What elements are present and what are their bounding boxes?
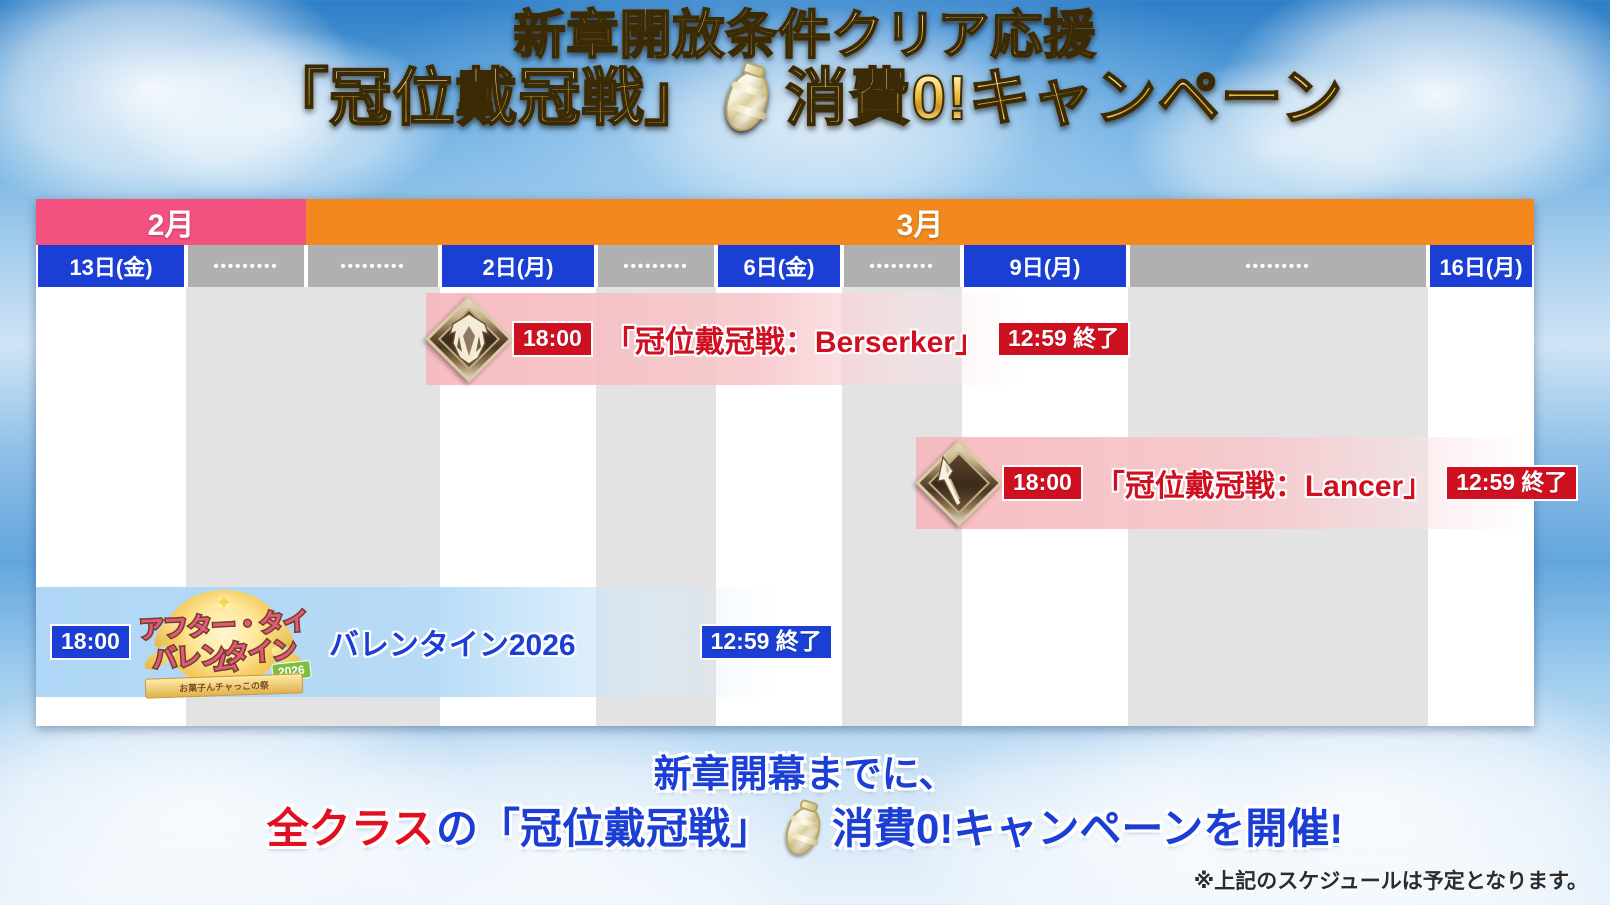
footer-line-1: 新章開幕までに、 (0, 753, 1610, 799)
schedule-body: 18:00 「冠位戴冠戦：Berserker」 12:59 終了 (36, 287, 1534, 726)
date-cell-feb-13: 13日(金) (36, 245, 186, 287)
date-dots: ••••••••• (340, 258, 405, 275)
date-cell-blank-5: ••••••••• (1128, 245, 1428, 287)
date-cell-mar-2: 2日(月) (440, 245, 596, 287)
title-line-2-prefix: 「冠位戴冠戦」 (266, 66, 707, 133)
date-label: 9日(月) (1010, 250, 1081, 282)
campaign-title: 新章開放条件クリア応援 「冠位戴冠戦」 消費0!キャンペーン (0, 8, 1610, 134)
date-dots: ••••••••• (623, 258, 688, 275)
valentine-end-badge: 12:59 終了 (700, 624, 833, 660)
date-cell-blank-2: ••••••••• (306, 245, 440, 287)
berserker-beast-glyph (444, 312, 494, 366)
valentine-logo-icon: ✦ アフター・タイム バレンタイン 2026 お菓子んチャっこの祭 (131, 588, 317, 696)
date-dots: ••••••••• (1245, 258, 1310, 275)
date-header-row: 13日(金) ••••••••• ••••••••• 2日(月) •••••••… (36, 245, 1534, 287)
valentine-start-badge: 18:00 (50, 624, 131, 660)
date-cell-blank-4: ••••••••• (842, 245, 962, 287)
date-cell-mar-9: 9日(月) (962, 245, 1128, 287)
event-bar-valentine[interactable]: 18:00 ✦ アフター・タイム バレンタイン 2026 お菓子んチャっこの祭 … (36, 587, 776, 697)
lancer-spear-glyph (931, 453, 987, 513)
footer-line-2-end: 消費0!キャンペーンを開催! (832, 804, 1343, 854)
date-label: 6日(金) (744, 250, 815, 282)
date-label: 13日(金) (69, 250, 152, 282)
valentine-logo-ribbon: お菓子んチャっこの祭 (145, 673, 304, 699)
date-cell-blank-3: ••••••••• (596, 245, 716, 287)
schedule-table: 2月 3月 13日(金) ••••••••• ••••••••• 2日(月) •… (36, 199, 1534, 726)
date-label: 2日(月) (483, 250, 554, 282)
footer-line-2: 全クラス の「冠位戴冠戦」 消費0!キャンペーンを開催! (0, 801, 1610, 857)
date-cell-mar-16: 16日(月) (1428, 245, 1534, 287)
footer-all-class-text: 全クラス (267, 804, 434, 854)
date-cell-mar-6: 6日(金) (716, 245, 842, 287)
date-cell-blank-1: ••••••••• (186, 245, 306, 287)
valentine-event-title: バレンタイン2026 (329, 620, 576, 664)
footer-note: ※上記のスケジュールは予定となります。 (0, 857, 1610, 905)
event-row-valentine: 18:00 ✦ アフター・タイム バレンタイン 2026 お菓子んチャっこの祭 … (36, 287, 1534, 726)
footer-line-2-mid: の「冠位戴冠戦」 (436, 804, 772, 854)
month-cell-february: 2月 (36, 199, 306, 245)
month-cell-march: 3月 (306, 199, 1534, 245)
title-line-2-suffix: 消費0!キャンペーン (785, 66, 1343, 133)
golden-apple-icon (713, 64, 779, 134)
golden-apple-icon (776, 801, 828, 857)
title-line-2: 「冠位戴冠戦」 消費0!キャンペーン (266, 64, 1343, 134)
title-line-1: 新章開放条件クリア応援 (0, 8, 1610, 64)
footer-section: 新章開幕までに、 全クラス の「冠位戴冠戦」 消費0!キャンペーンを開催! ※上… (0, 753, 1610, 905)
date-label: 16日(月) (1439, 250, 1522, 282)
date-dots: ••••••••• (213, 258, 278, 275)
date-dots: ••••••••• (869, 258, 934, 275)
month-header-row: 2月 3月 (36, 199, 1534, 245)
